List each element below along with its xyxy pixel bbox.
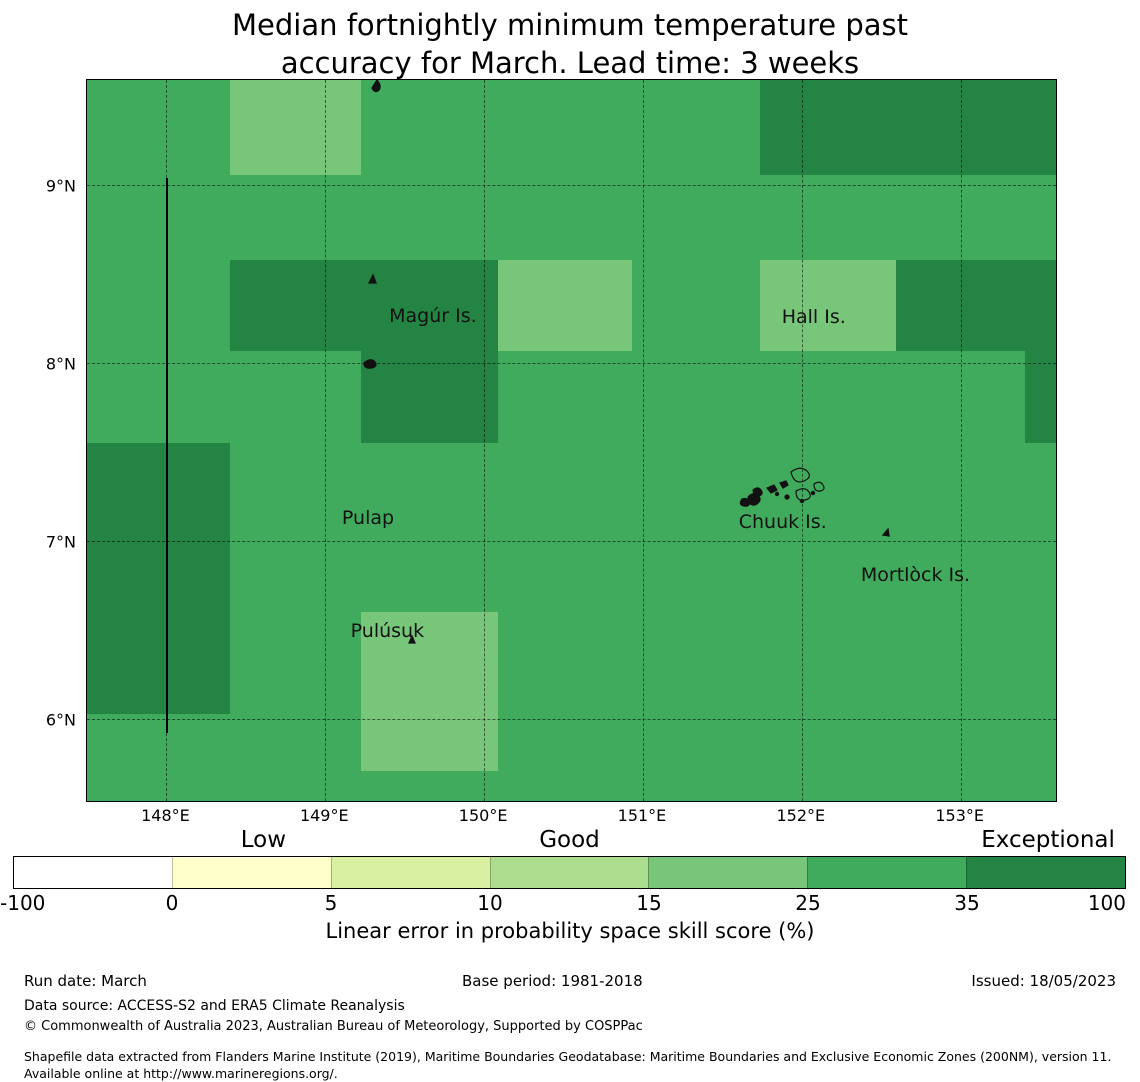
map-island-label: Hall Is. [782,306,846,328]
title-line-1: Median fortnightly minimum temperature p… [0,6,1140,44]
colorbar-tick-label: 100 [1088,891,1126,915]
issued-date-text: Issued: 18/05/2023 [971,972,1116,990]
colorbar-tick-labels: -1000510152535100 [0,891,1140,915]
x-axis-tick-label: 152°E [777,806,826,825]
colorbar-tick-label: 10 [477,891,502,915]
x-axis-tick-label: 151°E [618,806,667,825]
colorbar-caption: Low [241,827,286,853]
colorbar-segment [490,857,649,888]
island-shapes-svg [87,80,1056,801]
colorbar-tick-label: 25 [795,891,820,915]
y-axis-tick-label: 9°N [46,176,76,195]
x-axis-tick-label: 148°E [141,806,190,825]
footer: Run date: March Base period: 1981-2018 I… [0,972,1140,992]
x-axis-tick-label: 150°E [459,806,508,825]
run-date-text: Run date: March [24,972,147,990]
colorbar-tick-label: 15 [636,891,661,915]
title-line-2: accuracy for March. Lead time: 3 weeks [0,44,1140,82]
colorbar-segment [807,857,966,888]
map-island-label: Magúr Is. [389,305,477,327]
colorbar[interactable] [13,856,1126,889]
colorbar-tick-label: -100 [0,891,45,915]
map-island-label: Pulúsuk [351,620,424,642]
pulap-island-shape [364,360,376,368]
map-island-label: Pulap [342,507,394,529]
map-overlay-layer: Magúr Is.Hall Is.PulapPulúsukChuuk Is.M… [87,80,1056,801]
shapefile-attribution-text: Shapefile data extracted from Flanders M… [24,1048,1124,1082]
magur-island-shape [369,275,376,283]
colorbar-captions: LowGoodExceptional [0,827,1140,855]
page-title: Median fortnightly minimum temperature p… [0,6,1140,82]
colorbar-tick-label: 0 [166,891,179,915]
mortlock-island-shape [883,529,889,536]
y-axis-tick-label: 6°N [46,710,76,729]
colorbar-segment [14,857,172,888]
colorbar-caption: Exceptional [981,827,1115,853]
y-axis-tick-label: 8°N [46,354,76,373]
footer-row-1: Run date: March Base period: 1981-2018 I… [0,972,1140,992]
map-island-label: Mortlòck Is. [861,564,970,586]
colorbar-segment [648,857,807,888]
colorbar-segment [172,857,331,888]
copyright-text: © Commonwealth of Australia 2023, Austra… [24,1019,643,1034]
colorbar-caption: Good [539,827,600,853]
x-axis-tick-label: 149°E [300,806,349,825]
colorbar-tick-label: 35 [954,891,979,915]
y-axis-tick-label: 7°N [46,532,76,551]
colorbar-segment [966,857,1125,888]
data-source-text: Data source: ACCESS-S2 and ERA5 Climate … [24,998,405,1014]
base-period-text: Base period: 1981-2018 [462,972,643,990]
top-island-shape [372,80,380,92]
colorbar-segment [331,857,490,888]
colorbar-axis-label: Linear error in probability space skill … [0,919,1140,943]
map-island-label: Chuuk Is. [739,511,827,533]
colorbar-tick-label: 5 [325,891,338,915]
chuuk-islands-shape [740,468,824,506]
map-plot-area[interactable]: Magúr Is.Hall Is.PulapPulúsukChuuk Is.M… [86,79,1057,802]
x-axis-tick-label: 153°E [935,806,984,825]
